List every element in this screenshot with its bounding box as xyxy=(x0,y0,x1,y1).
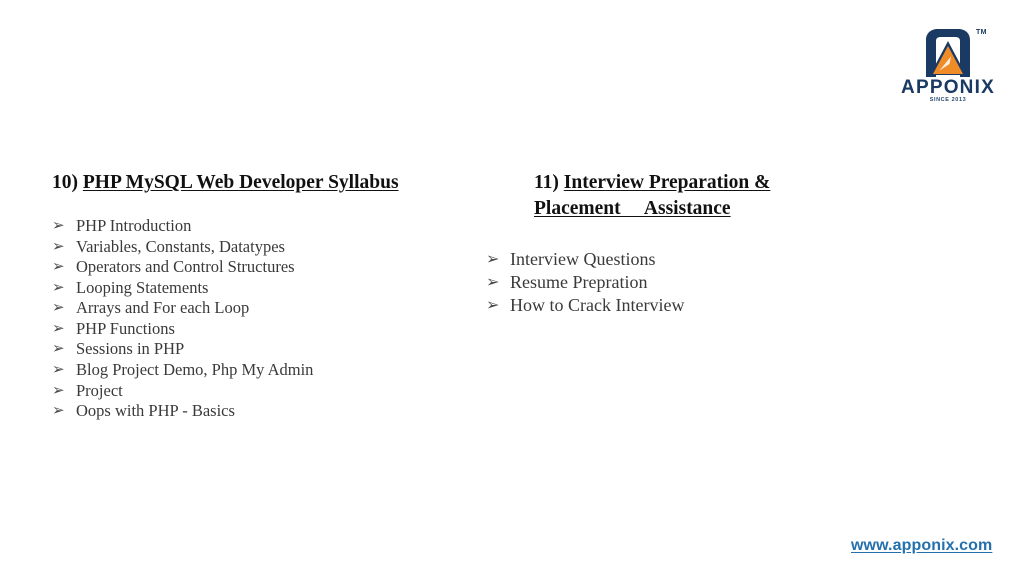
arrow-bullet-icon: ➢ xyxy=(52,360,65,381)
list-item: ➢Project xyxy=(52,381,492,402)
list-item: ➢Sessions in PHP xyxy=(52,339,492,360)
list-item: ➢Interview Questions xyxy=(486,248,898,271)
left-column-heading: 10) PHP MySQL Web Developer Syllabus xyxy=(52,170,492,196)
arrow-bullet-icon: ➢ xyxy=(52,381,65,402)
trademark-symbol: TM xyxy=(976,29,987,36)
apponix-logo: TM APPONIX SINCE 2013 xyxy=(888,28,1008,110)
list-item-label: Arrays and For each Loop xyxy=(76,298,249,317)
arrow-bullet-icon: ➢ xyxy=(486,271,499,294)
logo-wordmark: APPONIX xyxy=(888,78,1008,97)
right-heading-title-line1: Interview Preparation & xyxy=(564,172,771,193)
apponix-logomark-icon xyxy=(920,28,976,77)
arrow-bullet-icon: ➢ xyxy=(52,339,65,360)
list-item: ➢PHP Functions xyxy=(52,319,492,340)
list-item-label: How to Crack Interview xyxy=(510,295,684,315)
slide-canvas: TM APPONIX SINCE 2013 10) PHP MySQL Web … xyxy=(0,0,1024,576)
list-item: ➢Looping Statements xyxy=(52,278,492,299)
arrow-bullet-icon: ➢ xyxy=(52,319,65,340)
logo-since-text: SINCE 2013 xyxy=(888,98,1008,104)
arrow-bullet-icon: ➢ xyxy=(52,216,65,237)
right-heading-number: 11) xyxy=(534,172,559,193)
list-item: ➢PHP Introduction xyxy=(52,216,492,237)
list-item-label: Operators and Control Structures xyxy=(76,257,295,276)
list-item-label: PHP Introduction xyxy=(76,216,191,235)
list-item-label: Sessions in PHP xyxy=(76,339,184,358)
list-item: ➢Blog Project Demo, Php My Admin xyxy=(52,360,492,381)
arrow-bullet-icon: ➢ xyxy=(486,248,499,271)
left-column-list: ➢PHP Introduction ➢Variables, Constants,… xyxy=(52,216,492,422)
right-column: 11) Interview Preparation & Placement As… xyxy=(478,170,898,317)
list-item-label: Resume Prepration xyxy=(510,272,647,292)
list-item: ➢Oops with PHP - Basics xyxy=(52,401,492,422)
list-item-label: Interview Questions xyxy=(510,249,655,269)
arrow-bullet-icon: ➢ xyxy=(52,257,65,278)
arrow-bullet-icon: ➢ xyxy=(486,294,499,317)
left-heading-title: PHP MySQL Web Developer Syllabus xyxy=(83,172,399,193)
list-item-label: Looping Statements xyxy=(76,278,208,297)
right-column-heading: 11) Interview Preparation & Placement As… xyxy=(478,170,898,222)
list-item: ➢Resume Prepration xyxy=(486,271,898,294)
website-url-link[interactable]: www.apponix.com xyxy=(851,537,992,555)
arrow-bullet-icon: ➢ xyxy=(52,401,65,422)
list-item-label: PHP Functions xyxy=(76,319,175,338)
list-item-label: Oops with PHP - Basics xyxy=(76,401,235,420)
list-item-label: Project xyxy=(76,381,123,400)
right-column-list: ➢Interview Questions ➢Resume Prepration … xyxy=(478,248,898,317)
right-heading-title-line2: Placement Assistance xyxy=(534,196,731,222)
logo-mark-wrap: TM xyxy=(888,28,1008,80)
list-item-label: Blog Project Demo, Php My Admin xyxy=(76,360,313,379)
list-item: ➢Variables, Constants, Datatypes xyxy=(52,237,492,258)
list-item: ➢How to Crack Interview xyxy=(486,294,898,317)
arrow-bullet-icon: ➢ xyxy=(52,237,65,258)
list-item-label: Variables, Constants, Datatypes xyxy=(76,237,285,256)
arrow-bullet-icon: ➢ xyxy=(52,298,65,319)
list-item: ➢Operators and Control Structures xyxy=(52,257,492,278)
arrow-bullet-icon: ➢ xyxy=(52,278,65,299)
left-column: 10) PHP MySQL Web Developer Syllabus ➢PH… xyxy=(52,170,492,422)
left-heading-number: 10) xyxy=(52,172,78,193)
list-item: ➢Arrays and For each Loop xyxy=(52,298,492,319)
